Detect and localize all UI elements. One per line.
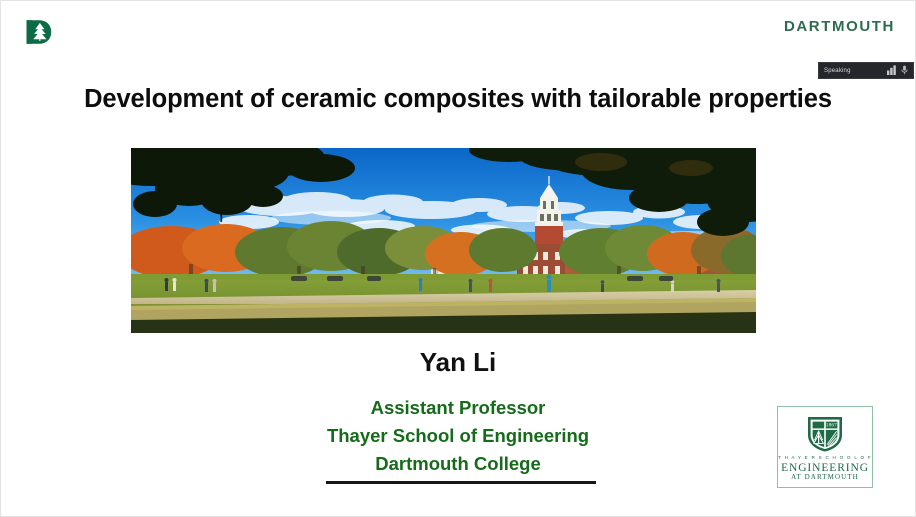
speaking-status-bar[interactable]: Speaking: [818, 62, 914, 79]
thayer-shield-year: 1867: [826, 422, 837, 428]
speaking-icons-group: [887, 62, 908, 80]
presenter-name: Yan Li: [1, 347, 915, 378]
thayer-logo-line-3: AT DARTMOUTH: [791, 474, 859, 481]
microphone-icon[interactable]: [901, 62, 908, 80]
title-divider-rule: [326, 481, 596, 484]
audio-level-bars-icon: [887, 62, 898, 80]
dartmouth-wordmark: DARTMOUTH: [784, 18, 895, 35]
thayer-shield-pine-icon: 1867: [805, 415, 845, 453]
dartmouth-d-pine-icon: [24, 17, 54, 47]
thayer-school-logo: 1867 T H A Y E R S C H O O L O F ENGINEE…: [777, 406, 873, 488]
campus-photo: [131, 148, 756, 333]
thayer-logo-line-2: ENGINEERING: [781, 462, 869, 474]
slide-title: Development of ceramic composites with t…: [1, 85, 915, 114]
presentation-slide: DARTMOUTH Speaking Development of cerami: [0, 0, 916, 517]
speaking-status-label: Speaking: [824, 68, 851, 74]
thayer-logo-line-1: T H A Y E R S C H O O L O F: [778, 456, 872, 461]
